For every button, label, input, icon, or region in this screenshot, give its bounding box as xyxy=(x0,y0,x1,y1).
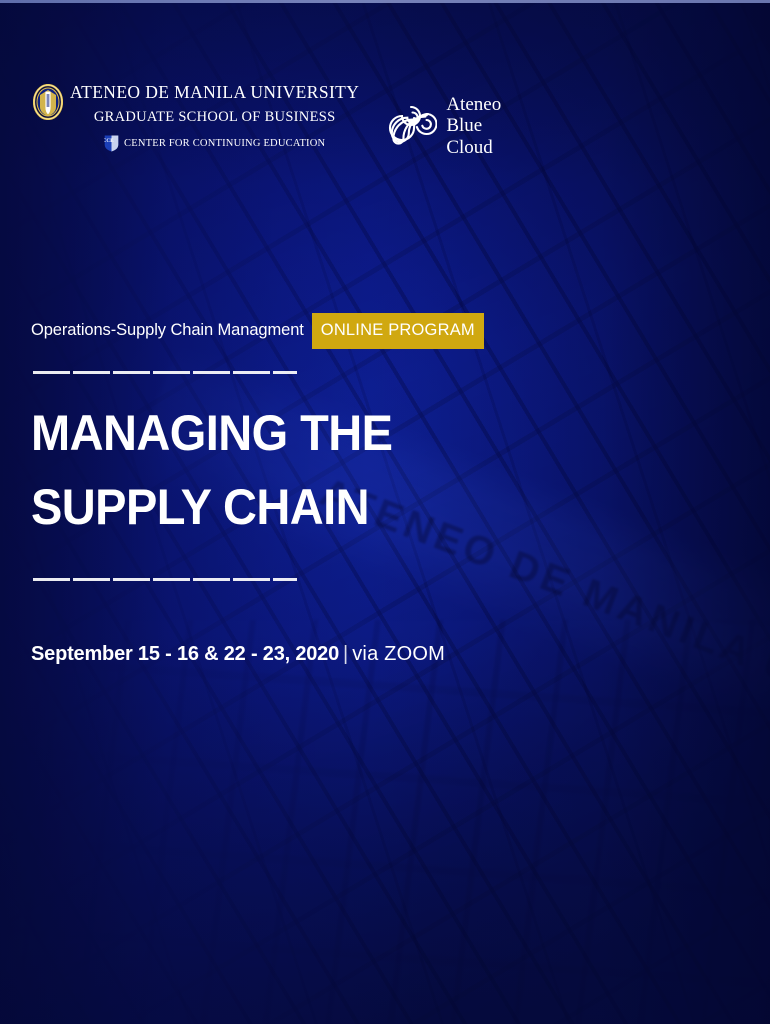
schedule-separator: | xyxy=(339,643,352,665)
ateneo-blue-cloud-infinity-knot-icon xyxy=(381,95,437,157)
divider-top xyxy=(33,371,297,374)
program-category-label: Operations-Supply Chain Managment xyxy=(31,321,312,340)
cce-shield-icon: CCE xyxy=(104,135,119,152)
cce-label: CENTER FOR CONTINUING EDUCATION xyxy=(124,138,325,149)
title-line-2: SUPPLY CHAIN xyxy=(31,470,435,544)
program-eyebrow-row: Operations-Supply Chain Managment ONLINE… xyxy=(31,312,461,349)
poster-copy-block: Operations-Supply Chain Managment ONLINE… xyxy=(31,312,461,666)
title-line-1: MANAGING THE xyxy=(31,396,435,470)
blue-cloud-line-1: Ateneo xyxy=(446,94,501,115)
online-program-badge: ONLINE PROGRAM xyxy=(312,313,484,349)
university-name-block: ATENEO DE MANILA UNIVERSITY GRADUATE SCH… xyxy=(70,82,359,152)
program-poster: ATENEO DE MANILA UNIVERSITY ATENEO DE MA… xyxy=(0,0,770,1024)
schedule-line: September 15 - 16 & 22 - 23, 2020|via ZO… xyxy=(31,643,461,666)
ateneo-university-seal-icon xyxy=(33,84,63,120)
blue-cloud-wordmark: Ateneo Blue Cloud xyxy=(446,94,501,158)
svg-text:CCE: CCE xyxy=(104,138,114,144)
school-name: GRADUATE SCHOOL OF BUSINESS xyxy=(94,109,336,126)
university-logo-lockup: ATENEO DE MANILA UNIVERSITY GRADUATE SCH… xyxy=(33,82,359,152)
delivery-platform: via ZOOM xyxy=(352,643,445,665)
blue-cloud-line-3: Cloud xyxy=(446,137,501,158)
cce-lockup: CCE CENTER FOR CONTINUING EDUCATION xyxy=(104,135,325,152)
university-name: ATENEO DE MANILA UNIVERSITY xyxy=(70,82,359,102)
blue-cloud-line-2: Blue xyxy=(446,115,501,136)
page-title: MANAGING THE SUPPLY CHAIN xyxy=(31,396,435,544)
blue-cloud-logo-lockup: Ateneo Blue Cloud xyxy=(381,94,501,158)
logo-header: ATENEO DE MANILA UNIVERSITY GRADUATE SCH… xyxy=(33,82,501,158)
divider-bottom xyxy=(33,578,297,581)
top-edge-strip xyxy=(0,0,770,3)
program-dates: September 15 - 16 & 22 - 23, 2020 xyxy=(31,643,339,665)
